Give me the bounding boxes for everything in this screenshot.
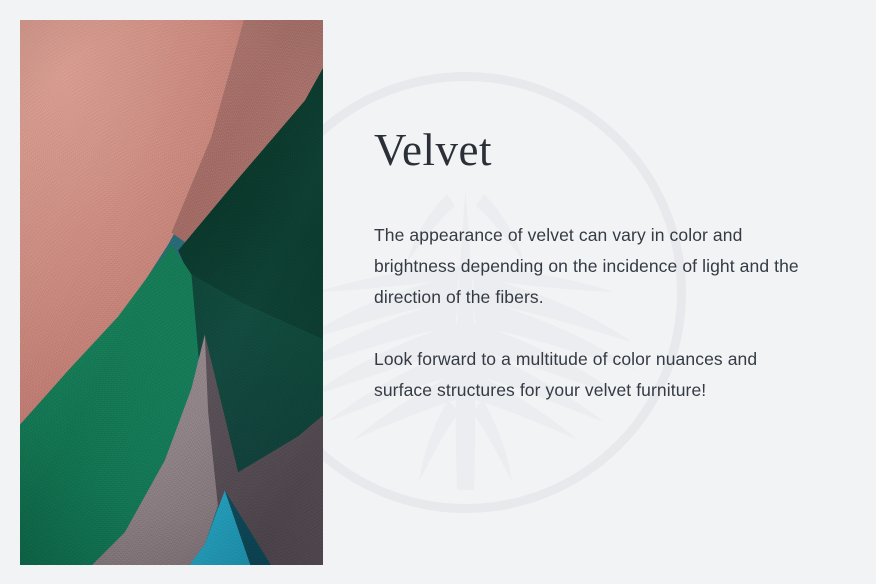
page-title: Velvet — [374, 128, 814, 173]
description-paragraph-2: Look forward to a multitude of color nua… — [374, 344, 810, 406]
velvet-fabric-image — [20, 20, 323, 565]
description-block: The appearance of velvet can vary in col… — [374, 220, 814, 406]
text-column: Velvet The appearance of velvet can vary… — [374, 128, 814, 406]
fabric-swatch-collage — [20, 20, 323, 565]
description-paragraph-1: The appearance of velvet can vary in col… — [374, 220, 810, 313]
velvet-promo-page: Velvet The appearance of velvet can vary… — [0, 0, 876, 584]
